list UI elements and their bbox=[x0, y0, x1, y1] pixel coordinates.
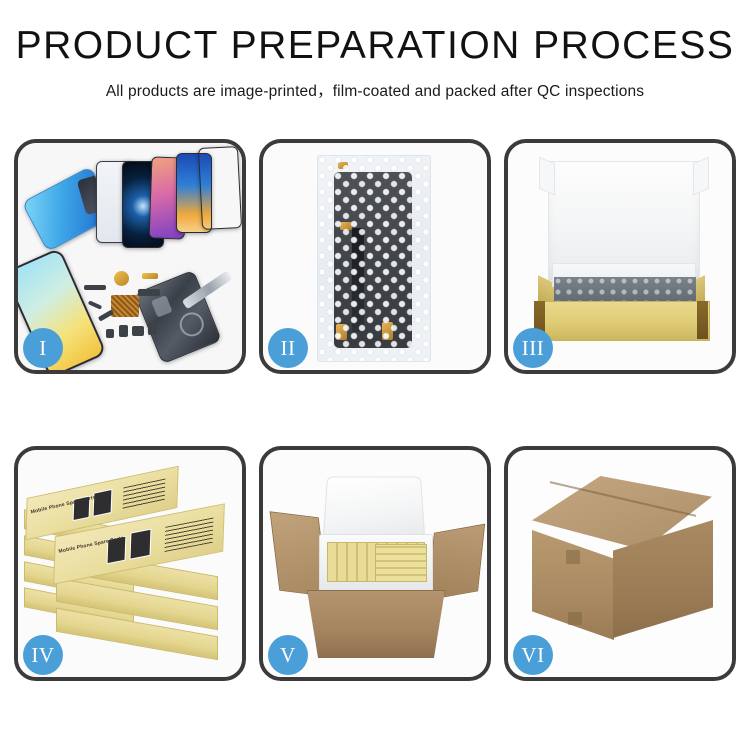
page-title: PRODUCT PREPARATION PROCESS bbox=[0, 26, 750, 65]
process-step-panel-5[interactable]: V bbox=[259, 446, 491, 681]
vibration-motor bbox=[114, 271, 129, 286]
carton-front-wall bbox=[307, 590, 445, 658]
process-step-panel-1[interactable]: I bbox=[14, 139, 246, 374]
step-badge-6: VI bbox=[513, 635, 553, 675]
label-window-b2 bbox=[130, 529, 152, 560]
step-badge-4: IV bbox=[23, 635, 63, 675]
yellow-box-front bbox=[534, 301, 710, 341]
bubble-texture bbox=[318, 156, 430, 361]
small-chip bbox=[106, 329, 114, 338]
sim-tray bbox=[119, 325, 128, 337]
copper-shield-grid bbox=[111, 295, 139, 317]
carton-tape-upper bbox=[566, 550, 580, 564]
page-header: PRODUCT PREPARATION PROCESS All products… bbox=[0, 0, 750, 101]
bubble-wrap-bag bbox=[317, 155, 431, 362]
label-window-a2 bbox=[93, 489, 113, 517]
process-step-panel-3[interactable]: III bbox=[504, 139, 736, 374]
step-badge-5: V bbox=[268, 635, 308, 675]
page-subtitle: All products are image-printed，film-coat… bbox=[0, 79, 750, 101]
camera-module bbox=[138, 289, 160, 296]
box-edge-right bbox=[697, 301, 708, 339]
earpiece-mesh bbox=[84, 285, 106, 290]
button-flex bbox=[148, 323, 156, 335]
process-step-panel-6[interactable]: VI bbox=[504, 446, 736, 681]
label-text-lines-a bbox=[123, 479, 166, 510]
step-badge-2: II bbox=[268, 328, 308, 368]
carton-flap-right bbox=[427, 524, 485, 601]
process-step-panel-4[interactable]: Mobile Phone Spare Parts Mobile Phone Sp… bbox=[14, 446, 246, 681]
step-badge-1: I bbox=[23, 328, 63, 368]
teal-phone-screen bbox=[198, 146, 242, 230]
process-step-panel-2[interactable]: II bbox=[259, 139, 491, 374]
foam-box-lid bbox=[323, 477, 426, 539]
yellow-boxes-row-b bbox=[375, 544, 427, 582]
gold-connector bbox=[142, 273, 158, 279]
step-badge-3: III bbox=[513, 328, 553, 368]
label-text-lines-b bbox=[165, 518, 214, 552]
speaker-unit bbox=[132, 326, 144, 336]
process-steps-grid: I II bbox=[14, 139, 736, 681]
carton-tape-lower bbox=[568, 612, 582, 625]
